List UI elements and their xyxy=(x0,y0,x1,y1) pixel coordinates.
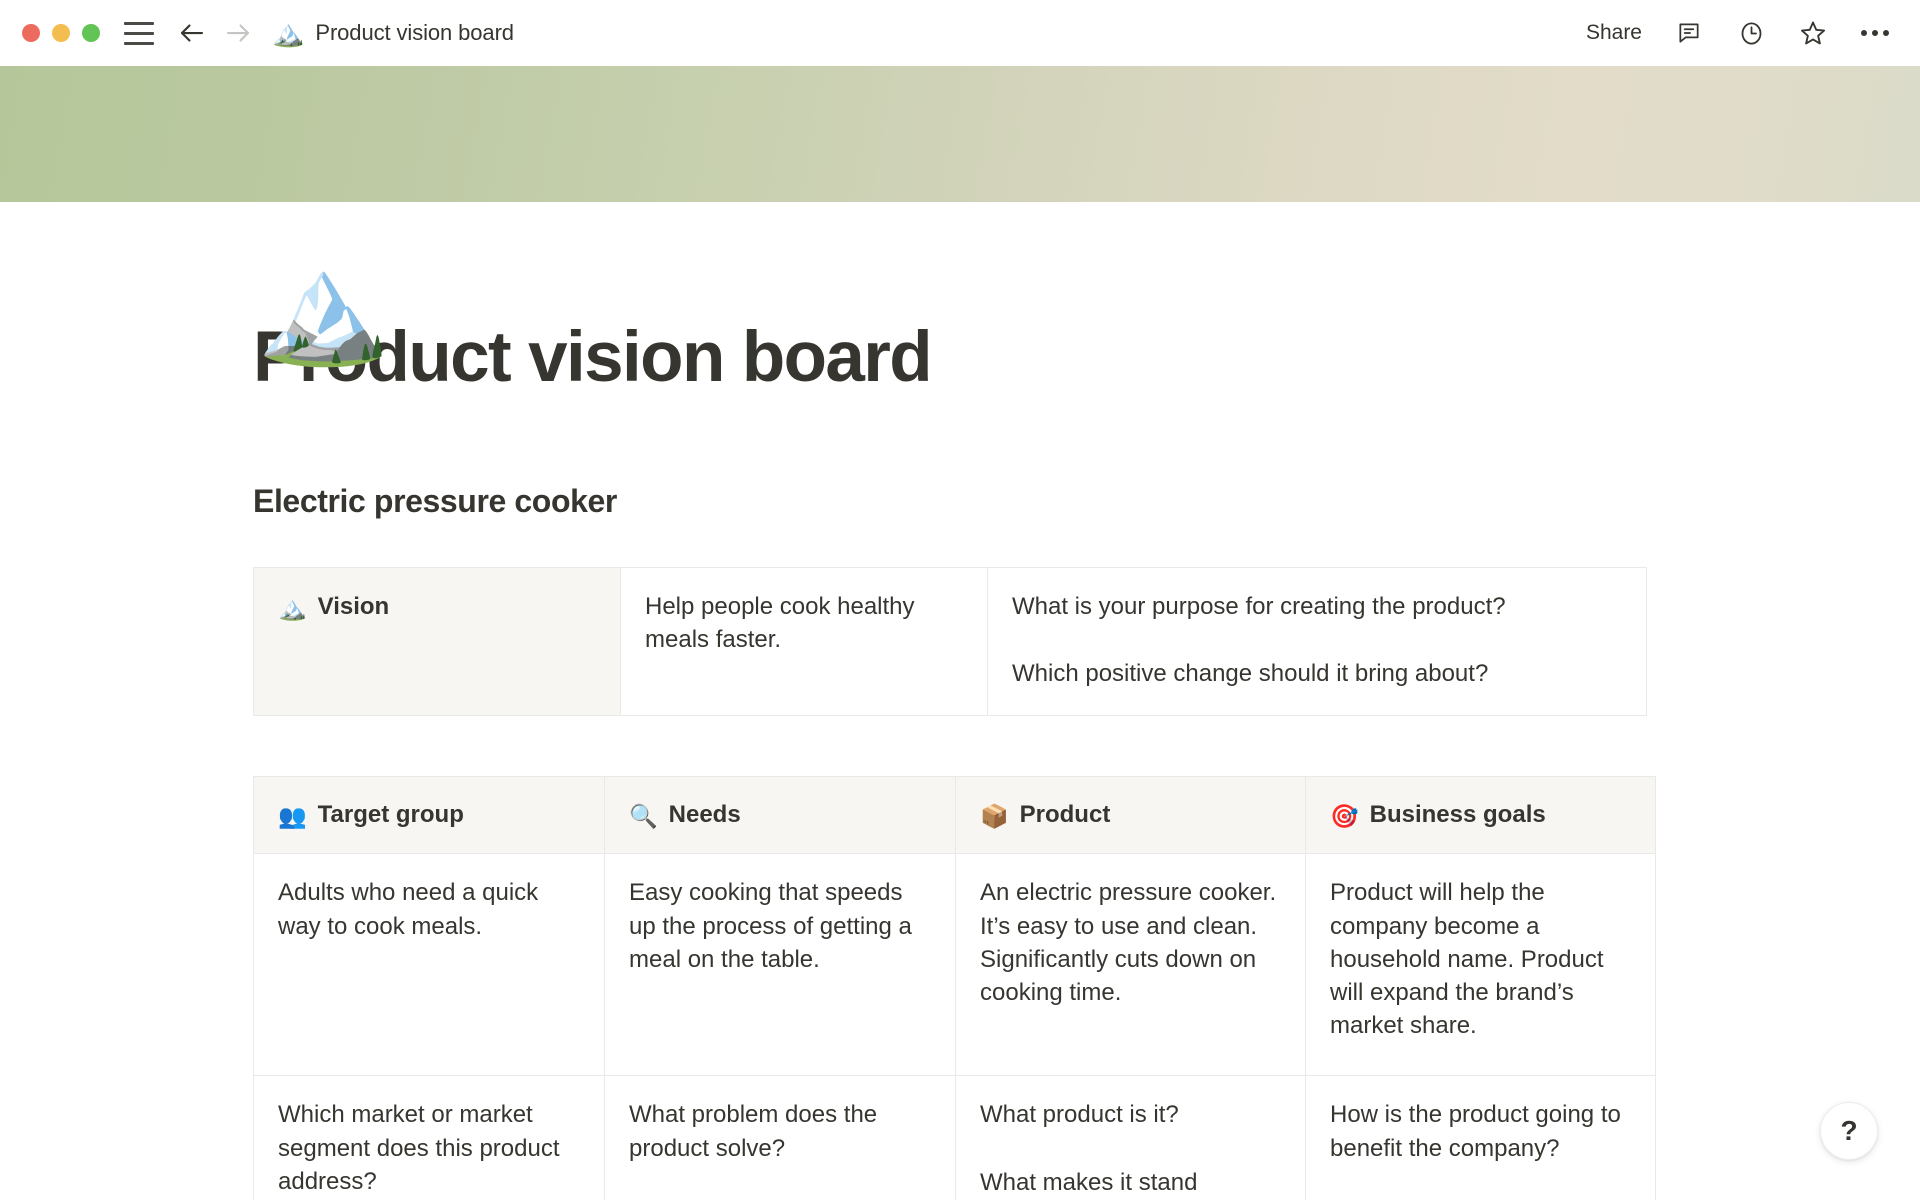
table-header-row: 👥Target group 🔍Needs 📦Product 🎯Business … xyxy=(254,776,1656,854)
placeholder-line: What makes it stand xyxy=(980,1166,1280,1199)
magnifying-glass-icon: 🔍 xyxy=(629,801,658,833)
placeholder-line: What problem does the product solve? xyxy=(629,1098,930,1164)
document-emoji-icon: 🏔️ xyxy=(272,20,304,46)
target-icon: 🎯 xyxy=(1330,801,1359,833)
page-title[interactable]: Product vision board xyxy=(253,320,1800,397)
table-row: Which market or market segment does this… xyxy=(254,1076,1656,1200)
help-button[interactable]: ? xyxy=(1820,1102,1878,1160)
share-button[interactable]: Share xyxy=(1584,17,1644,49)
vision-header-cell[interactable]: 🏔️Vision xyxy=(254,567,621,715)
title-bar-actions: Share xyxy=(1584,16,1892,50)
column-header-label: Target group xyxy=(318,801,464,828)
window-controls xyxy=(22,24,100,42)
table-row: 🏔️Vision Help people cook healthy meals … xyxy=(254,567,1647,715)
comment-icon[interactable] xyxy=(1672,16,1706,50)
vision-header-label: Vision xyxy=(318,593,390,620)
navigation-arrows xyxy=(176,17,254,49)
cell-product-placeholder[interactable]: What product is it? What makes it stand xyxy=(956,1076,1306,1200)
column-header-business-goals[interactable]: 🎯Business goals xyxy=(1306,776,1656,854)
placeholder-line: Which positive change should it bring ab… xyxy=(1012,657,1621,690)
table-row: Adults who need a quick way to cook meal… xyxy=(254,854,1656,1076)
title-bar: 🏔️ Product vision board Share xyxy=(0,0,1920,66)
more-options-icon[interactable] xyxy=(1858,16,1892,50)
column-header-label: Product xyxy=(1020,801,1111,828)
vision-value-cell[interactable]: Help people cook healthy meals faster. xyxy=(621,567,988,715)
column-header-needs[interactable]: 🔍Needs xyxy=(605,776,956,854)
placeholder-line: What product is it? xyxy=(980,1098,1280,1131)
document-title[interactable]: Product vision board xyxy=(315,20,514,46)
cell-business-goals-placeholder[interactable]: How is the product going to benefit the … xyxy=(1306,1076,1656,1200)
section-heading[interactable]: Electric pressure cooker xyxy=(253,483,1800,520)
vision-placeholder-cell[interactable]: What is your purpose for creating the pr… xyxy=(988,567,1647,715)
favorite-star-icon[interactable] xyxy=(1796,16,1830,50)
page-content: 🏔️ Product vision board Electric pressur… xyxy=(0,320,1920,1200)
column-header-label: Needs xyxy=(669,801,741,828)
mountain-icon: 🏔️ xyxy=(278,593,307,625)
vision-table: 🏔️Vision Help people cook healthy meals … xyxy=(253,567,1647,716)
cell-target-group-placeholder[interactable]: Which market or market segment does this… xyxy=(254,1076,605,1200)
placeholder-line: Which market or market segment does this… xyxy=(278,1098,579,1197)
column-header-product[interactable]: 📦Product xyxy=(956,776,1306,854)
column-header-label: Business goals xyxy=(1370,801,1546,828)
minimize-window-button[interactable] xyxy=(52,24,70,42)
cover-image[interactable] xyxy=(0,66,1920,202)
people-icon: 👥 xyxy=(278,801,307,833)
placeholder-line: What is your purpose for creating the pr… xyxy=(1012,590,1621,623)
column-header-target-group[interactable]: 👥Target group xyxy=(254,776,605,854)
cell-target-group-value[interactable]: Adults who need a quick way to cook meal… xyxy=(254,854,605,1076)
cell-needs-placeholder[interactable]: What problem does the product solve? xyxy=(605,1076,956,1200)
cell-business-goals-value[interactable]: Product will help the company become a h… xyxy=(1306,854,1656,1076)
forward-arrow-icon[interactable] xyxy=(222,17,254,49)
cell-needs-value[interactable]: Easy cooking that speeds up the process … xyxy=(605,854,956,1076)
close-window-button[interactable] xyxy=(22,24,40,42)
board-table: 👥Target group 🔍Needs 📦Product 🎯Business … xyxy=(253,776,1656,1200)
placeholder-line: How is the product going to benefit the … xyxy=(1330,1098,1630,1164)
cell-product-value[interactable]: An electric pressure cooker. It’s easy t… xyxy=(956,854,1306,1076)
package-icon: 📦 xyxy=(980,801,1009,833)
history-icon[interactable] xyxy=(1734,16,1768,50)
page-emoji-icon[interactable]: 🏔️ xyxy=(256,254,390,362)
back-arrow-icon[interactable] xyxy=(176,17,208,49)
hamburger-menu-icon[interactable] xyxy=(122,18,156,48)
maximize-window-button[interactable] xyxy=(82,24,100,42)
